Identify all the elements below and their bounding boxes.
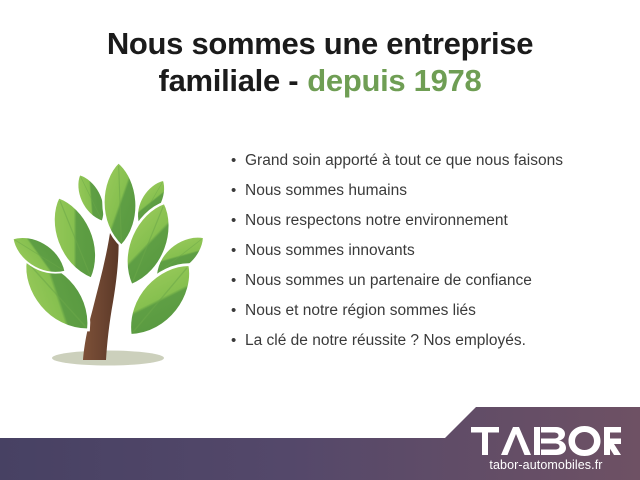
list-item-label: La clé de notre réussite ? Nos employés.	[245, 330, 526, 351]
title-line-1: Nous sommes une entreprise	[0, 26, 640, 63]
list-item: • Nous respectons notre environnement	[231, 210, 631, 240]
list-item: • La clé de notre réussite ? Nos employé…	[231, 330, 631, 360]
bullet-marker-icon: •	[231, 270, 245, 291]
brand-logo[interactable]: tabor-automobiles.fr	[468, 426, 624, 472]
bullet-marker-icon: •	[231, 210, 245, 231]
list-item-label: Nous respectons notre environnement	[245, 210, 508, 231]
logo-tagline: tabor-automobiles.fr	[468, 458, 624, 472]
list-item-label: Grand soin apporté à tout ce que nous fa…	[245, 150, 563, 171]
slide-canvas: Nous sommes une entreprise familiale -de…	[0, 0, 640, 480]
page-title: Nous sommes une entreprise familiale -de…	[0, 26, 640, 99]
bullet-marker-icon: •	[231, 150, 245, 171]
title-line-2-main: familiale -	[159, 63, 299, 98]
bullet-marker-icon: •	[231, 300, 245, 321]
bullet-marker-icon: •	[231, 330, 245, 351]
list-item: • Nous sommes un partenaire de confiance	[231, 270, 631, 300]
title-accent-text: depuis 1978	[307, 63, 481, 98]
tree-illustration	[12, 152, 212, 384]
list-item-label: Nous sommes innovants	[245, 240, 415, 261]
benefits-list: • Grand soin apporté à tout ce que nous …	[231, 150, 631, 360]
list-item-label: Nous sommes humains	[245, 180, 407, 201]
bullet-marker-icon: •	[231, 240, 245, 261]
footer-band: tabor-automobiles.fr	[0, 402, 640, 480]
title-line-2: familiale -depuis 1978	[0, 63, 640, 100]
tabor-wordmark-icon	[471, 426, 621, 456]
list-item: • Nous sommes humains	[231, 180, 631, 210]
tree-shadow	[52, 351, 164, 366]
list-item: • Nous et notre région sommes liés	[231, 300, 631, 330]
list-item-label: Nous sommes un partenaire de confiance	[245, 270, 532, 291]
list-item-label: Nous et notre région sommes liés	[245, 300, 476, 321]
list-item: • Grand soin apporté à tout ce que nous …	[231, 150, 631, 180]
bullet-marker-icon: •	[231, 180, 245, 201]
list-item: • Nous sommes innovants	[231, 240, 631, 270]
